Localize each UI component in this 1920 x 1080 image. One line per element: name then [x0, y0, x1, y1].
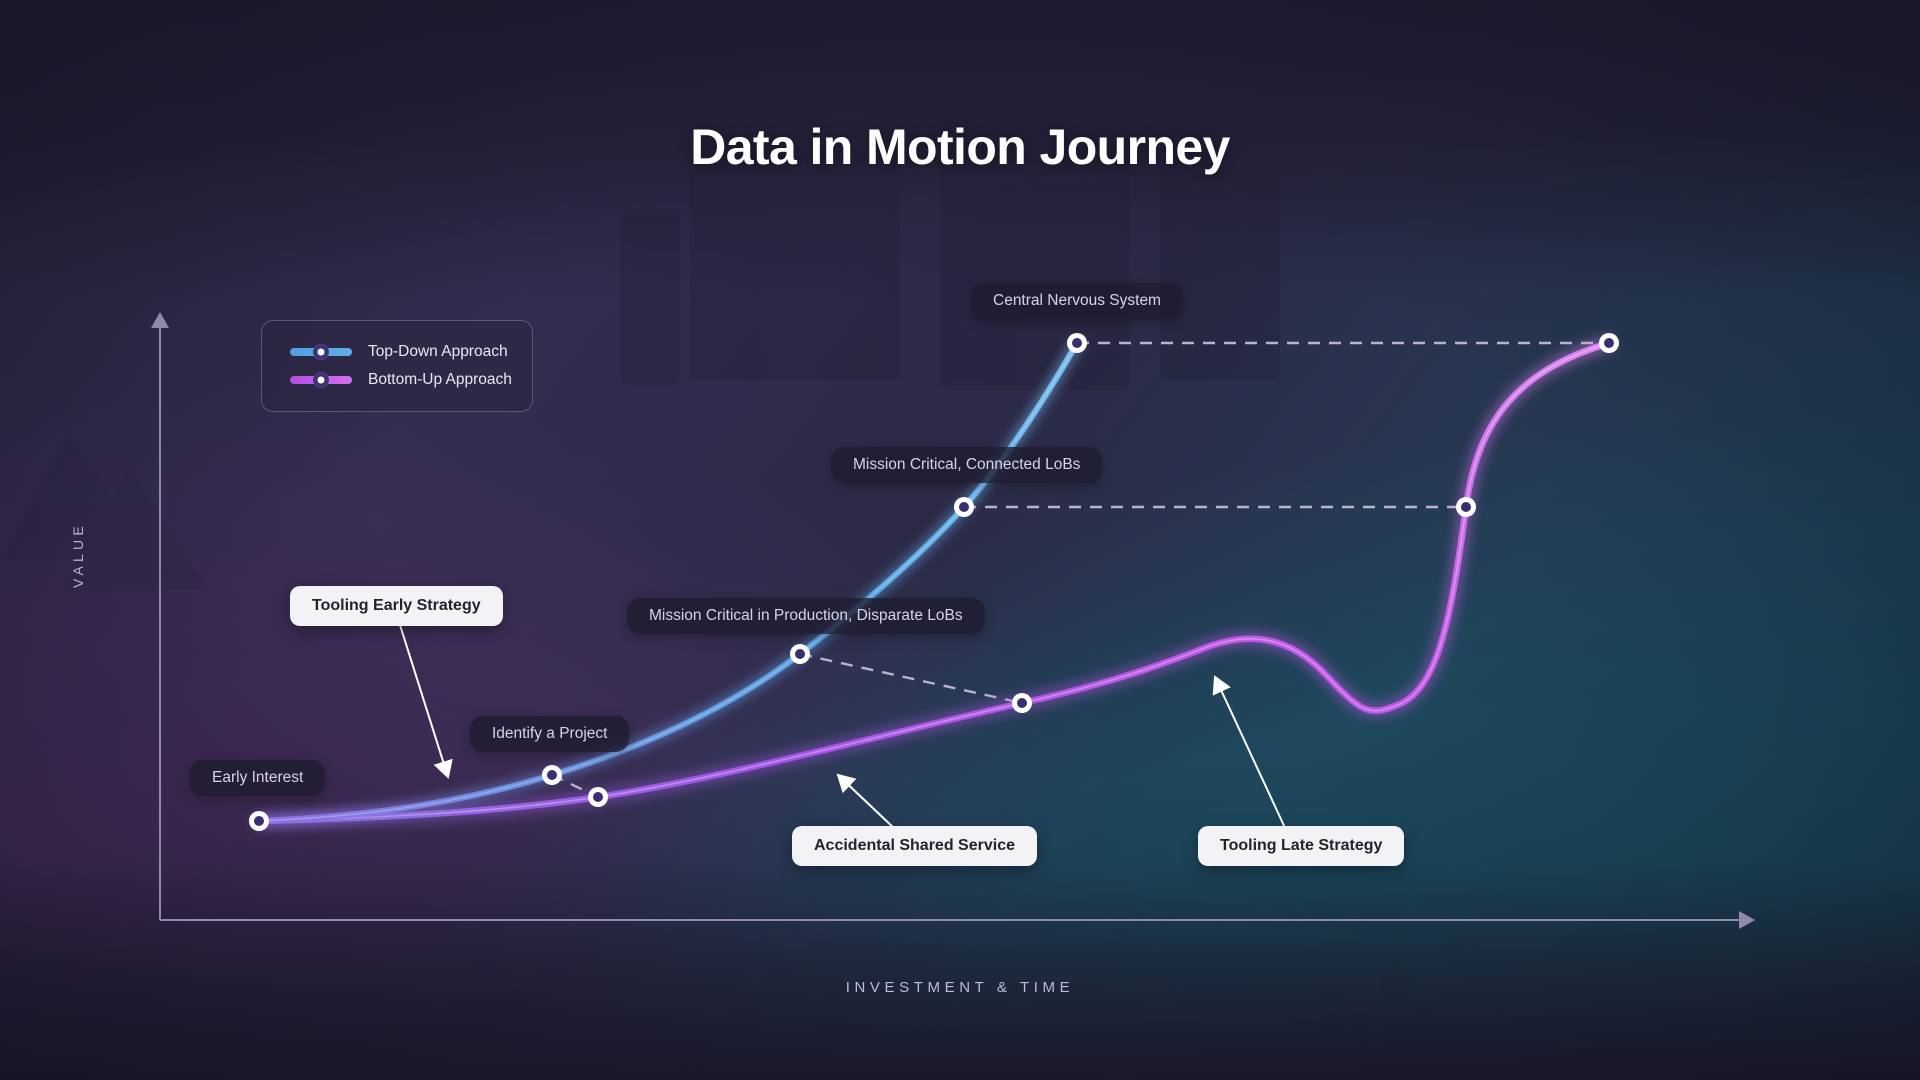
legend-item-top-down[interactable]: Top-Down Approach [290, 338, 532, 366]
bottom-up-curve-highlight [259, 343, 1609, 821]
marker-mission-critical-production-bottom-up[interactable] [1012, 693, 1032, 713]
top-down-curve [259, 343, 1077, 821]
legend-line-icon-top-down [290, 348, 352, 356]
marker-mission-critical-production-top-down[interactable] [790, 644, 810, 664]
callout-tooling-early-strategy[interactable]: Tooling Early Strategy [290, 586, 503, 626]
journey-chart: VALUE INVESTMENT & TIME Top-Down Approac… [0, 0, 1920, 1080]
marker-identify-project-top-down[interactable] [542, 765, 562, 785]
marker-central-nervous-system-top-down[interactable] [1067, 333, 1087, 353]
leader-accidental-shared [838, 775, 896, 830]
node-label-mission-critical-connected[interactable]: Mission Critical, Connected LoBs [831, 447, 1102, 483]
node-label-mission-critical-production[interactable]: Mission Critical in Production, Disparat… [627, 598, 985, 634]
callout-tooling-late-strategy[interactable]: Tooling Late Strategy [1198, 826, 1404, 866]
marker-central-nervous-system-bottom-up[interactable] [1599, 333, 1619, 353]
callout-accidental-shared-service[interactable]: Accidental Shared Service [792, 826, 1037, 866]
node-label-identify-a-project[interactable]: Identify a Project [470, 716, 629, 752]
chart-svg [0, 0, 1920, 1080]
node-label-central-nervous-system[interactable]: Central Nervous System [971, 283, 1183, 319]
top-down-curve-highlight [259, 343, 1077, 821]
legend-label-bottom-up: Bottom-Up Approach [368, 371, 512, 389]
chart-legend: Top-Down Approach Bottom-Up Approach [261, 320, 533, 412]
marker-mission-critical-connected-bottom-up[interactable] [1456, 497, 1476, 517]
marker-early-interest[interactable] [249, 811, 269, 831]
y-axis-title: VALUE [70, 522, 86, 588]
marker-identify-project-bottom-up[interactable] [588, 787, 608, 807]
legend-line-icon-bottom-up [290, 376, 352, 384]
stage-connectors [552, 343, 1609, 797]
node-label-early-interest[interactable]: Early Interest [190, 760, 325, 796]
x-axis-title: INVESTMENT & TIME [0, 979, 1920, 996]
leader-tooling-late [1215, 677, 1286, 830]
marker-mission-critical-connected-top-down[interactable] [954, 497, 974, 517]
connector-stage-3 [800, 654, 1022, 703]
leader-tooling-early [400, 625, 448, 777]
bottom-up-curve [259, 343, 1609, 821]
legend-label-top-down: Top-Down Approach [368, 343, 508, 361]
legend-item-bottom-up[interactable]: Bottom-Up Approach [290, 366, 532, 394]
